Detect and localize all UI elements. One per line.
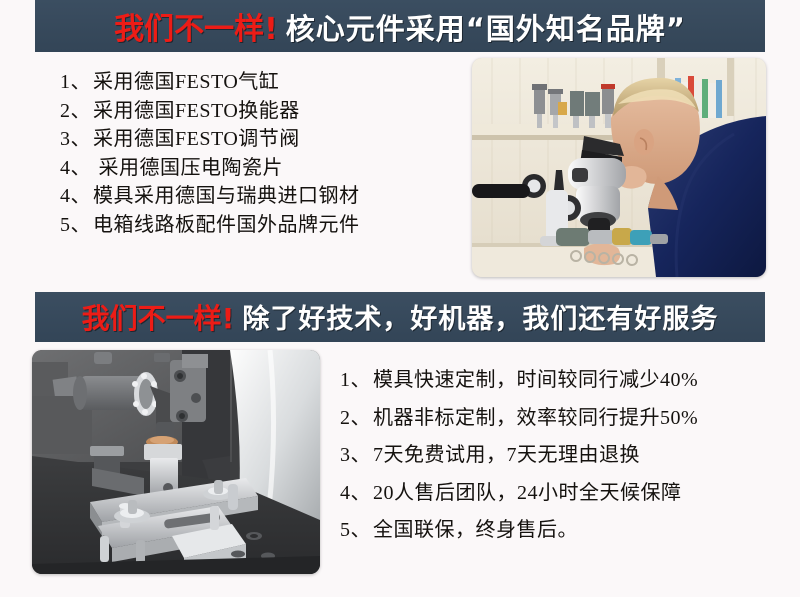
bottom-banner-red-text: 我们不一样! [82,297,235,337]
microscope-inspection-photo [472,58,766,277]
list-item: 1、采用德国FESTO气缸 [60,68,360,97]
list-item-text: 采用德国FESTO调节阀 [93,128,300,150]
list-item-text: 采用德国FESTO气缸 [93,71,279,93]
list-item-number: 5、 [60,214,91,236]
list-item: 3、7天免费试用，7天无理由退换 [340,437,698,475]
list-item: 2、机器非标定制，效率较同行提升50% [340,400,698,438]
list-item-number: 1、 [340,369,371,391]
top-banner-white-text: 核心元件采用“国外知名品牌” [286,6,686,48]
list-item-text: 7天免费试用，7天无理由退换 [373,444,640,466]
bottom-feature-list: 1、模具快速定制，时间较同行减少40% 2、机器非标定制，效率较同行提升50% … [340,362,698,550]
list-item-text: 电箱线路板配件国外品牌元件 [93,214,360,236]
bottom-banner-inner: 我们不一样! 除了好技术，好机器，我们还有好服务 [82,297,719,337]
list-item: 5、全国联保，终身售后。 [340,512,698,550]
list-item: 4、 采用德国压电陶瓷片 [60,154,360,183]
microscope-photo-graphic [472,58,766,277]
list-item-number: 2、 [60,100,91,122]
list-item-number: 4、 [60,185,91,207]
list-item-number: 4、 [60,157,91,179]
list-item: 1、模具快速定制，时间较同行减少40% [340,362,698,400]
list-item: 2、采用德国FESTO换能器 [60,97,360,126]
bottom-banner: 我们不一样! 除了好技术，好机器，我们还有好服务 [35,292,765,342]
list-item-text: 模具采用德国与瑞典进口钢材 [93,185,360,207]
top-banner-inner: 我们不一样! 核心元件采用“国外知名品牌” [114,4,686,48]
list-item: 3、采用德国FESTO调节阀 [60,125,360,154]
list-item-text: 机器非标定制，效率较同行提升50% [373,407,698,429]
top-banner-red-text: 我们不一样! [114,4,278,48]
machine-tooling-photo [32,350,320,574]
list-item: 5、电箱线路板配件国外品牌元件 [60,211,360,240]
top-feature-list: 1、采用德国FESTO气缸 2、采用德国FESTO换能器 3、采用德国FESTO… [60,68,360,239]
list-item-text: 全国联保，终身售后。 [373,519,578,541]
machine-photo-graphic [32,350,320,574]
list-item-text: 20人售后团队，24小时全天候保障 [373,482,682,504]
list-item: 4、模具采用德国与瑞典进口钢材 [60,182,360,211]
list-item-text: 采用德国压电陶瓷片 [93,157,283,179]
promo-page: 我们不一样! 核心元件采用“国外知名品牌” 1、采用德国FESTO气缸 2、采用… [0,0,800,597]
list-item: 4、20人售后团队，24小时全天候保障 [340,475,698,513]
top-banner: 我们不一样! 核心元件采用“国外知名品牌” [35,0,765,52]
list-item-text: 采用德国FESTO换能器 [93,100,300,122]
list-item-number: 5、 [340,519,371,541]
list-item-number: 2、 [340,407,371,429]
list-item-number: 4、 [340,482,371,504]
list-item-number: 3、 [60,128,91,150]
list-item-number: 3、 [340,444,371,466]
list-item-text: 模具快速定制，时间较同行减少40% [373,369,698,391]
bottom-banner-white-text: 除了好技术，好机器，我们还有好服务 [242,297,718,336]
list-item-number: 1、 [60,71,91,93]
